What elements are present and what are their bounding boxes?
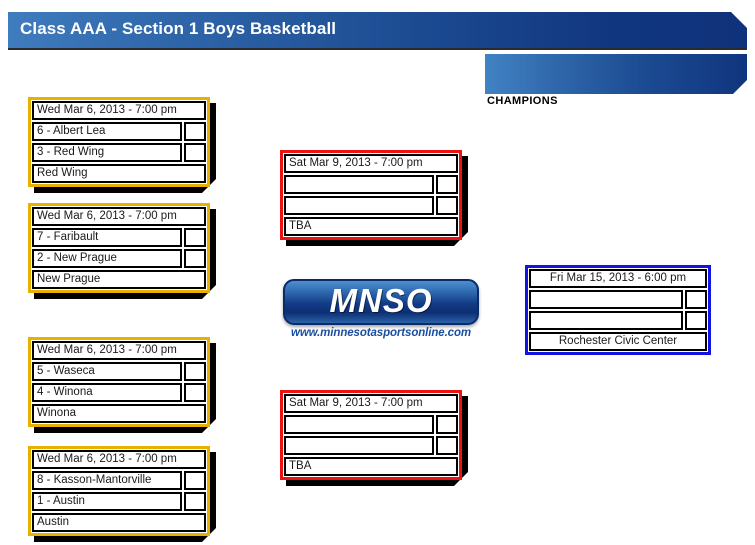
- logo-wordmark: MNSO: [281, 282, 481, 320]
- team-name: [284, 415, 434, 434]
- team-name: 3 - Red Wing: [32, 143, 182, 162]
- team-score: [184, 249, 206, 268]
- game-inner: Wed Mar 6, 2013 - 7:00 pm 7 - Faribault …: [28, 203, 210, 293]
- date-row: Wed Mar 6, 2013 - 7:00 pm: [32, 207, 206, 226]
- winner-row: Red Wing: [32, 164, 206, 183]
- winner-row: New Prague: [32, 270, 206, 289]
- game-box-quarterfinal-1[interactable]: Wed Mar 6, 2013 - 7:00 pm 6 - Albert Lea…: [28, 97, 210, 187]
- game-date: Wed Mar 6, 2013 - 7:00 pm: [32, 207, 206, 226]
- team-score: [184, 471, 206, 490]
- date-row: Fri Mar 15, 2013 - 6:00 pm: [529, 269, 707, 288]
- winner-row: Austin: [32, 513, 206, 532]
- team-score: [184, 383, 206, 402]
- game-date: Wed Mar 6, 2013 - 7:00 pm: [32, 341, 206, 360]
- date-row: Sat Mar 9, 2013 - 7:00 pm: [284, 394, 458, 413]
- team-score: [184, 143, 206, 162]
- game-box-quarterfinal-3[interactable]: Wed Mar 6, 2013 - 7:00 pm 5 - Waseca 4 -…: [28, 337, 210, 427]
- team-name: [284, 175, 434, 194]
- team-row-2[interactable]: [284, 196, 458, 215]
- team-name: 8 - Kasson-Mantorville: [32, 471, 182, 490]
- title-divider: [8, 48, 747, 50]
- team-score: [436, 436, 458, 455]
- team-score: [436, 196, 458, 215]
- date-row: Sat Mar 9, 2013 - 7:00 pm: [284, 154, 458, 173]
- team-row-1[interactable]: 7 - Faribault: [32, 228, 206, 247]
- team-row-2[interactable]: 4 - Winona: [32, 383, 206, 402]
- game-winner: TBA: [284, 457, 458, 476]
- game-box-quarterfinal-4[interactable]: Wed Mar 6, 2013 - 7:00 pm 8 - Kasson-Man…: [28, 446, 210, 536]
- team-name: [529, 290, 683, 309]
- team-name: 2 - New Prague: [32, 249, 182, 268]
- team-row-1[interactable]: [284, 175, 458, 194]
- team-score: [685, 311, 707, 330]
- game-date: Fri Mar 15, 2013 - 6:00 pm: [529, 269, 707, 288]
- game-box-semifinal-2[interactable]: Sat Mar 9, 2013 - 7:00 pm TBA: [280, 390, 462, 480]
- game-inner: Wed Mar 6, 2013 - 7:00 pm 8 - Kasson-Man…: [28, 446, 210, 536]
- game-winner: TBA: [284, 217, 458, 236]
- game-winner: Winona: [32, 404, 206, 423]
- team-name: [284, 436, 434, 455]
- team-row-2[interactable]: 1 - Austin: [32, 492, 206, 511]
- team-name: 4 - Winona: [32, 383, 182, 402]
- team-score: [184, 228, 206, 247]
- team-name: 6 - Albert Lea: [32, 122, 182, 141]
- date-row: Wed Mar 6, 2013 - 7:00 pm: [32, 450, 206, 469]
- game-date: Wed Mar 6, 2013 - 7:00 pm: [32, 450, 206, 469]
- game-venue: Rochester Civic Center: [529, 332, 707, 351]
- game-inner: Sat Mar 9, 2013 - 7:00 pm TBA: [280, 150, 462, 240]
- champions-label: CHAMPIONS: [487, 95, 558, 107]
- team-name: [284, 196, 434, 215]
- team-score: [436, 175, 458, 194]
- winner-row: TBA: [284, 217, 458, 236]
- game-inner: Wed Mar 6, 2013 - 7:00 pm 5 - Waseca 4 -…: [28, 337, 210, 427]
- game-date: Sat Mar 9, 2013 - 7:00 pm: [284, 394, 458, 413]
- team-name: 7 - Faribault: [32, 228, 182, 247]
- team-row-1[interactable]: 5 - Waseca: [32, 362, 206, 381]
- game-inner: Fri Mar 15, 2013 - 6:00 pm Rochester Civ…: [525, 265, 711, 355]
- mnso-logo[interactable]: MNSO www.minnesotasportsonline.com: [281, 279, 481, 344]
- team-row-2[interactable]: 2 - New Prague: [32, 249, 206, 268]
- game-box-quarterfinal-2[interactable]: Wed Mar 6, 2013 - 7:00 pm 7 - Faribault …: [28, 203, 210, 293]
- game-box-final[interactable]: Fri Mar 15, 2013 - 6:00 pm Rochester Civ…: [525, 265, 711, 355]
- team-row-1[interactable]: [284, 415, 458, 434]
- game-winner: New Prague: [32, 270, 206, 289]
- team-row-2[interactable]: [284, 436, 458, 455]
- team-score: [184, 122, 206, 141]
- game-winner: Red Wing: [32, 164, 206, 183]
- team-score: [436, 415, 458, 434]
- team-score: [685, 290, 707, 309]
- winner-row: TBA: [284, 457, 458, 476]
- game-inner: Wed Mar 6, 2013 - 7:00 pm 6 - Albert Lea…: [28, 97, 210, 187]
- team-name: 1 - Austin: [32, 492, 182, 511]
- team-name: 5 - Waseca: [32, 362, 182, 381]
- team-score: [184, 362, 206, 381]
- logo-url: www.minnesotasportsonline.com: [281, 327, 481, 339]
- game-winner: Austin: [32, 513, 206, 532]
- game-date: Wed Mar 6, 2013 - 7:00 pm: [32, 101, 206, 120]
- team-row-2[interactable]: 3 - Red Wing: [32, 143, 206, 162]
- game-inner: Sat Mar 9, 2013 - 7:00 pm TBA: [280, 390, 462, 480]
- venue-row: Rochester Civic Center: [529, 332, 707, 351]
- champions-banner: [485, 54, 747, 94]
- team-name: [529, 311, 683, 330]
- page-title: Class AAA - Section 1 Boys Basketball: [20, 19, 336, 39]
- winner-row: Winona: [32, 404, 206, 423]
- page-title-banner: Class AAA - Section 1 Boys Basketball: [8, 12, 747, 48]
- game-date: Sat Mar 9, 2013 - 7:00 pm: [284, 154, 458, 173]
- team-row-1[interactable]: 8 - Kasson-Mantorville: [32, 471, 206, 490]
- date-row: Wed Mar 6, 2013 - 7:00 pm: [32, 101, 206, 120]
- team-row-1[interactable]: [529, 290, 707, 309]
- game-box-semifinal-1[interactable]: Sat Mar 9, 2013 - 7:00 pm TBA: [280, 150, 462, 240]
- team-score: [184, 492, 206, 511]
- date-row: Wed Mar 6, 2013 - 7:00 pm: [32, 341, 206, 360]
- team-row-2[interactable]: [529, 311, 707, 330]
- team-row-1[interactable]: 6 - Albert Lea: [32, 122, 206, 141]
